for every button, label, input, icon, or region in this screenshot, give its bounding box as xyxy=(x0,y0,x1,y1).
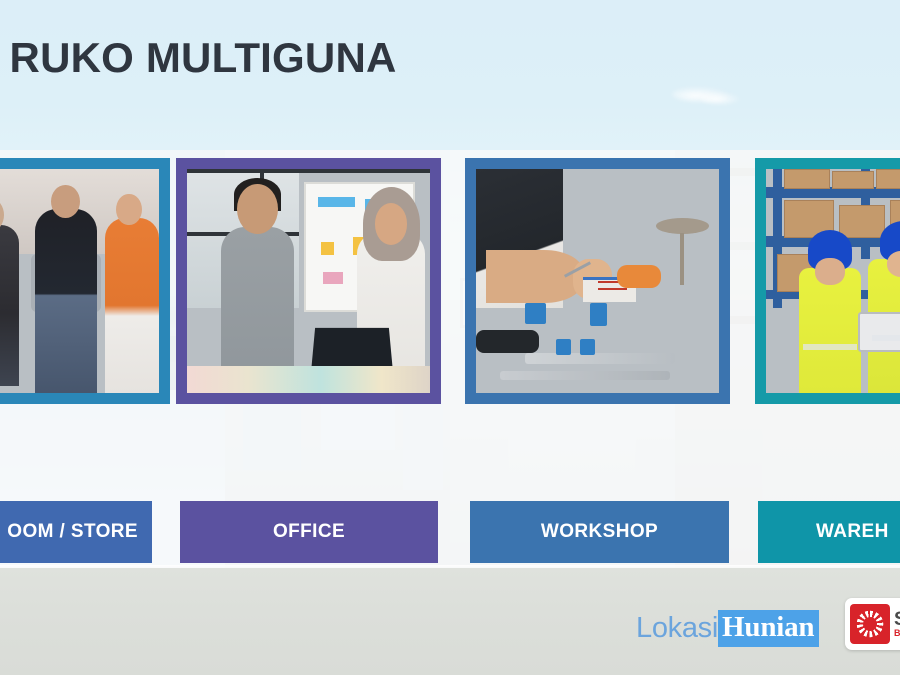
slide-canvas: 🚲 🚲 EP RUKO MULTIGUNA xyxy=(0,0,900,675)
card-workshop[interactable] xyxy=(465,158,730,404)
card-photo-warehouse xyxy=(766,169,900,393)
label-text-office: OFFICE xyxy=(273,521,345,543)
card-office[interactable] xyxy=(176,158,441,404)
card-photo-office xyxy=(187,169,430,393)
partner-logo-badge[interactable]: S Bu xyxy=(845,598,900,650)
card-warehouse[interactable] xyxy=(755,158,900,404)
label-bar-warehouse[interactable]: WAREH xyxy=(758,501,900,563)
label-text-workshop: WORKSHOP xyxy=(541,521,658,543)
partner-logo-initial: S xyxy=(894,610,900,629)
card-showroom-store[interactable] xyxy=(0,158,170,404)
label-text-warehouse: WAREH xyxy=(816,521,889,543)
page-title: EP RUKO MULTIGUNA xyxy=(0,34,642,82)
spiral-logo-icon xyxy=(850,604,890,644)
label-bar-office[interactable]: OFFICE xyxy=(180,501,438,563)
label-bar-showroom-store[interactable]: OOM / STORE xyxy=(0,501,152,563)
brand-logo[interactable]: Lokasi Hunian xyxy=(636,608,819,648)
brand-logo-word-hunian: Hunian xyxy=(718,610,819,647)
brand-logo-word-lokasi: Lokasi xyxy=(636,612,718,645)
card-photo-workshop xyxy=(476,169,719,393)
card-photo-showroom-store xyxy=(0,169,159,393)
label-bar-workshop[interactable]: WORKSHOP xyxy=(470,501,729,563)
partner-logo-subtext: Bu xyxy=(894,629,900,638)
label-text-showroom-store: OOM / STORE xyxy=(7,521,138,543)
cloud-shape-secondary xyxy=(700,92,742,104)
